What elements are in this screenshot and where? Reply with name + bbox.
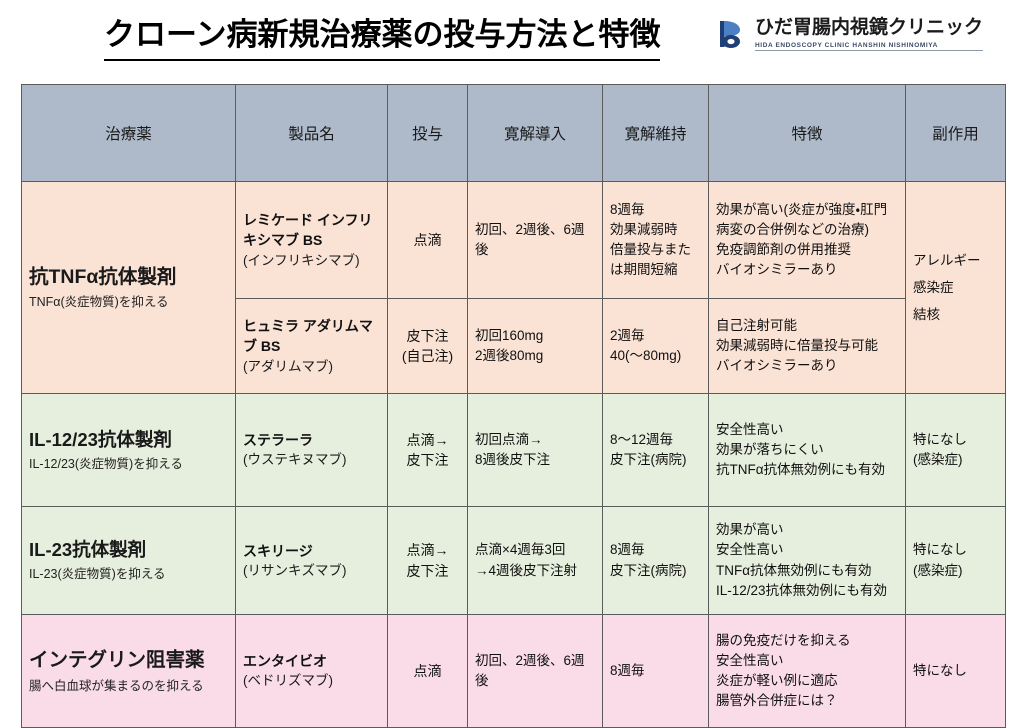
product-cell: エンタイビオ (ベドリズマブ) <box>236 615 388 728</box>
side-effect-cell: 特になし (感染症) <box>906 394 1006 507</box>
column-header-feature: 特徴 <box>709 85 906 182</box>
column-header-induction: 寛解導入 <box>468 85 603 182</box>
product-generic: (インフリキシマブ) <box>243 251 380 271</box>
product-generic: (ウステキヌマブ) <box>243 450 380 470</box>
induction-cell: 点滴×4週毎3回 →4週後皮下注射 <box>468 507 603 615</box>
route-cell: 点滴 <box>388 182 468 299</box>
product-brand: エンタイビオ <box>243 651 380 671</box>
table-row: IL-12/23抗体製剤 IL-12/23(炎症物質)を抑える ステラーラ (ウ… <box>22 394 1006 507</box>
clinic-logo: ひだ胃腸内視鏡クリニック HIDA ENDOSCOPY CLINIC HANSH… <box>716 18 983 51</box>
drug-comparison-table: 治療薬 製品名 投与 寛解導入 寛解維持 特徴 副作用 抗TNFα抗体製剤 TN… <box>21 84 1006 728</box>
induction-cell: 初回、2週後、6週後 <box>468 182 603 299</box>
drug-class-description: IL-23(炎症物質)を抑える <box>29 566 228 582</box>
drug-class-description: 腸へ白血球が集まるのを抑える <box>29 678 228 694</box>
column-header-route: 投与 <box>388 85 468 182</box>
product-cell: ステラーラ (ウステキヌマブ) <box>236 394 388 507</box>
maintenance-cell: 2週毎 40(〜80mg) <box>603 299 709 394</box>
side-effect-cell: 特になし <box>906 615 1006 728</box>
route-cell: 皮下注 (自己注) <box>388 299 468 394</box>
drug-class-cell: IL-23抗体製剤 IL-23(炎症物質)を抑える <box>22 507 236 615</box>
feature-cell: 効果が高い(炎症が強度・肛門 病変の合併例などの治療) 免疫調節剤の併用推奨 バ… <box>709 182 906 299</box>
drug-class-name: IL-12/23抗体製剤 <box>29 428 228 452</box>
induction-cell: 初回160mg 2週後80mg <box>468 299 603 394</box>
induction-cell: 初回点滴→ 8週後皮下注 <box>468 394 603 507</box>
product-brand: ヒュミラ アダリムマブ BS <box>243 316 380 357</box>
column-header-side: 副作用 <box>906 85 1006 182</box>
drug-class-cell: 抗TNFα抗体製剤 TNFα(炎症物質)を抑える <box>22 182 236 394</box>
side-effect-cell: 特になし (感染症) <box>906 507 1006 615</box>
clinic-subtitle: HIDA ENDOSCOPY CLINIC HANSHIN NISHINOMIY… <box>755 42 983 49</box>
drug-class-description: IL-12/23(炎症物質)を抑える <box>29 456 228 472</box>
drug-comparison-table-wrapper: 治療薬 製品名 投与 寛解導入 寛解維持 特徴 副作用 抗TNFα抗体製剤 TN… <box>21 84 1006 728</box>
product-brand: ステラーラ <box>243 430 380 450</box>
drug-class-name: 抗TNFα抗体製剤 <box>29 265 228 290</box>
side-effect-cell: アレルギー 感染症 結核 <box>906 182 1006 394</box>
product-cell: ヒュミラ アダリムマブ BS (アダリムマブ) <box>236 299 388 394</box>
feature-cell: 自己注射可能 効果減弱時に倍量投与可能 バイオシミラーあり <box>709 299 906 394</box>
drug-class-name: IL-23抗体製剤 <box>29 538 228 562</box>
feature-cell: 腸の免疫だけを抑える 安全性高い 炎症が軽い例に適応 腸管外合併症には？ <box>709 615 906 728</box>
table-row: 抗TNFα抗体製剤 TNFα(炎症物質)を抑える レミケード インフリキシマブ … <box>22 182 1006 299</box>
maintenance-cell: 8週毎 <box>603 615 709 728</box>
maintenance-cell: 8週毎 皮下注(病院) <box>603 507 709 615</box>
maintenance-cell: 8〜12週毎 皮下注(病院) <box>603 394 709 507</box>
drug-class-name: インテグリン阻害薬 <box>29 648 228 673</box>
product-brand: スキリージ <box>243 541 380 561</box>
route-cell: 点滴→ 皮下注 <box>388 394 468 507</box>
feature-cell: 効果が高い 安全性高い TNFα抗体無効例にも有効 IL-12/23抗体無効例に… <box>709 507 906 615</box>
clinic-logo-text: ひだ胃腸内視鏡クリニック HIDA ENDOSCOPY CLINIC HANSH… <box>755 18 983 51</box>
product-generic: (アダリムマブ) <box>243 357 380 377</box>
drug-class-cell: IL-12/23抗体製剤 IL-12/23(炎症物質)を抑える <box>22 394 236 507</box>
page-title: クローン病新規治療薬の投与方法と特徴 <box>104 16 660 61</box>
product-brand: レミケード インフリキシマブ BS <box>243 210 380 251</box>
table-header-row: 治療薬 製品名 投与 寛解導入 寛解維持 特徴 副作用 <box>22 85 1006 182</box>
maintenance-cell: 8週毎 効果減弱時 倍量投与また は期間短縮 <box>603 182 709 299</box>
product-generic: (ベドリズマブ) <box>243 671 380 691</box>
route-cell: 点滴 <box>388 615 468 728</box>
column-header-class: 治療薬 <box>22 85 236 182</box>
product-cell: レミケード インフリキシマブ BS (インフリキシマブ) <box>236 182 388 299</box>
product-cell: スキリージ (リサンキズマブ) <box>236 507 388 615</box>
product-generic: (リサンキズマブ) <box>243 561 380 581</box>
clinic-name: ひだ胃腸内視鏡クリニック <box>755 18 983 39</box>
induction-cell: 初回、2週後、6週後 <box>468 615 603 728</box>
table-row: IL-23抗体製剤 IL-23(炎症物質)を抑える スキリージ (リサンキズマブ… <box>22 507 1006 615</box>
route-cell: 点滴→ 皮下注 <box>388 507 468 615</box>
page-header: クローン病新規治療薬の投与方法と特徴 ひだ胃腸内視鏡クリニック HIDA END… <box>0 0 1024 74</box>
drug-class-cell: インテグリン阻害薬 腸へ白血球が集まるのを抑える <box>22 615 236 728</box>
drug-class-description: TNFα(炎症物質)を抑える <box>29 294 228 310</box>
column-header-maintenance: 寛解維持 <box>603 85 709 182</box>
feature-cell: 安全性高い 効果が落ちにくい 抗TNFα抗体無効例にも有効 <box>709 394 906 507</box>
column-header-product: 製品名 <box>236 85 388 182</box>
table-row: インテグリン阻害薬 腸へ白血球が集まるのを抑える エンタイビオ (ベドリズマブ)… <box>22 615 1006 728</box>
clinic-logo-mark-icon <box>716 18 748 50</box>
